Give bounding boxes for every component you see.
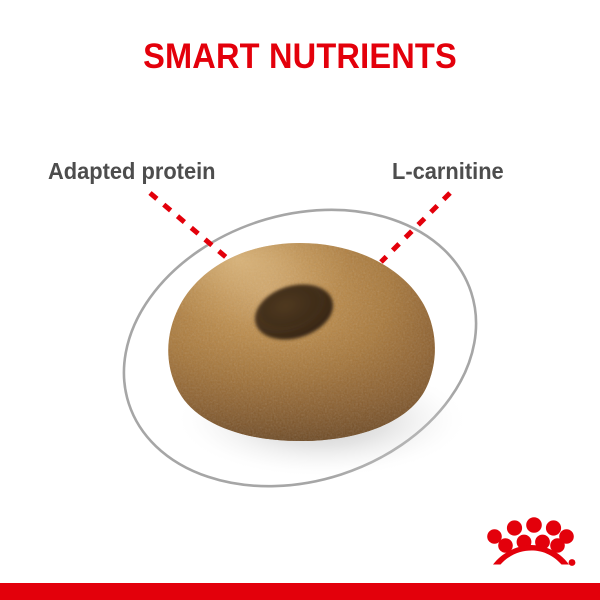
- crown-dot: [526, 517, 542, 533]
- registered-mark-icon: [569, 559, 576, 566]
- crown-dot: [507, 520, 522, 535]
- highlight-ellipse: [88, 166, 513, 530]
- kibble-shadow: [174, 362, 470, 478]
- leader-line-right: [381, 193, 450, 262]
- kibble-illustration: [0, 0, 600, 600]
- crown-dot: [546, 520, 561, 535]
- leader-line-left: [150, 193, 227, 258]
- callout-label-adapted-protein: Adapted protein: [48, 158, 216, 184]
- page-title: SMART NUTRIENTS: [21, 38, 579, 76]
- kibble: [150, 228, 450, 465]
- bottom-accent-bar: [0, 583, 600, 600]
- product-feature-graphic: SMART NUTRIENTS: [0, 0, 600, 600]
- royal-canin-crown-logo: [484, 512, 576, 570]
- kibble-center-hole: [248, 275, 340, 348]
- callout-label-l-carnitine: L-carnitine: [392, 158, 504, 184]
